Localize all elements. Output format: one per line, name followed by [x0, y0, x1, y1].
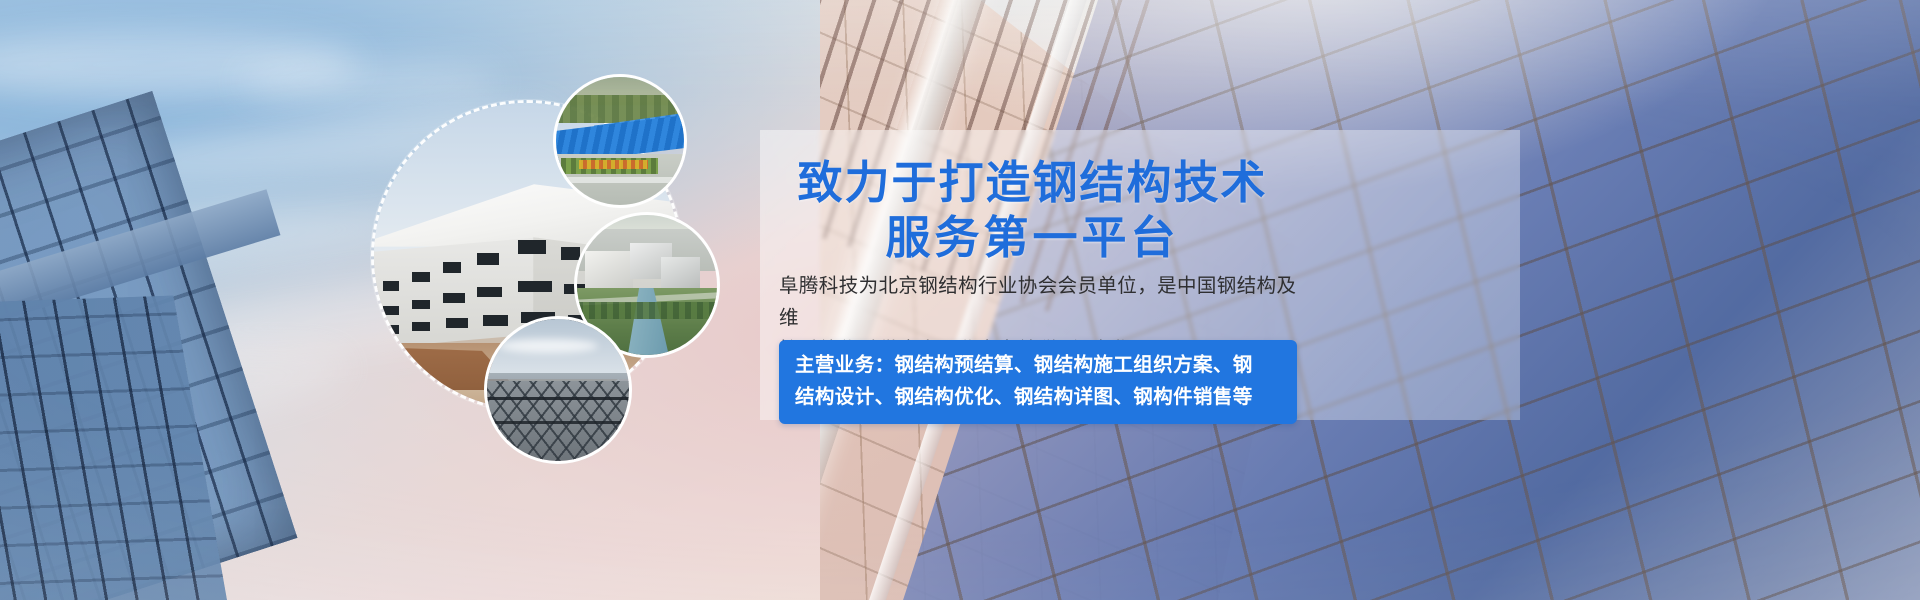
photo-window	[446, 318, 468, 328]
hero-banner: 致力于打造钢结构技术 服务第一平台 阜腾科技为北京钢结构行业协会会员单位，是中国…	[0, 0, 1920, 600]
photo-cloud	[498, 339, 597, 353]
photo-building	[661, 257, 700, 291]
photo-window	[412, 300, 431, 309]
business-scope-callout[interactable]: 主营业务：钢结构预结算、钢结构施工组织方案、钢 结构设计、钢结构优化、钢结构详图…	[779, 340, 1297, 424]
photo-window	[412, 272, 431, 283]
photo-window	[477, 253, 499, 265]
photo-flowerbed	[579, 160, 648, 169]
photo-steel-beam	[487, 421, 629, 424]
photo-window	[383, 325, 399, 334]
photo-window	[412, 322, 431, 331]
banner-headline: 致力于打造钢结构技术 服务第一平台	[760, 156, 1305, 266]
headline-line-2: 服务第一平台	[760, 211, 1305, 266]
photo-road	[556, 177, 684, 183]
business-scope-line-2: 结构设计、钢结构优化、钢结构详图、钢构件销售等	[795, 381, 1283, 413]
photo-steel-beam	[487, 397, 629, 400]
photo-window	[443, 262, 462, 273]
photo-treeline	[577, 302, 717, 319]
photo-window	[518, 240, 546, 254]
headline-line-1: 致力于打造钢结构技术	[760, 156, 1305, 211]
circular-photo-cluster	[0, 0, 780, 600]
photo-window	[383, 281, 399, 291]
photo-window	[518, 281, 552, 292]
photo-window	[383, 306, 399, 315]
description-line-1: 阜腾科技为北京钢结构行业协会会员单位，是中国钢结构及维	[779, 270, 1309, 334]
aerial-blue-roof-factory-photo	[553, 74, 687, 208]
steel-space-frame-structure-photo	[484, 316, 632, 464]
business-scope-line-1: 主营业务：钢结构预结算、钢结构施工组织方案、钢	[795, 349, 1283, 381]
photo-window	[477, 287, 502, 297]
photo-window	[443, 293, 465, 302]
